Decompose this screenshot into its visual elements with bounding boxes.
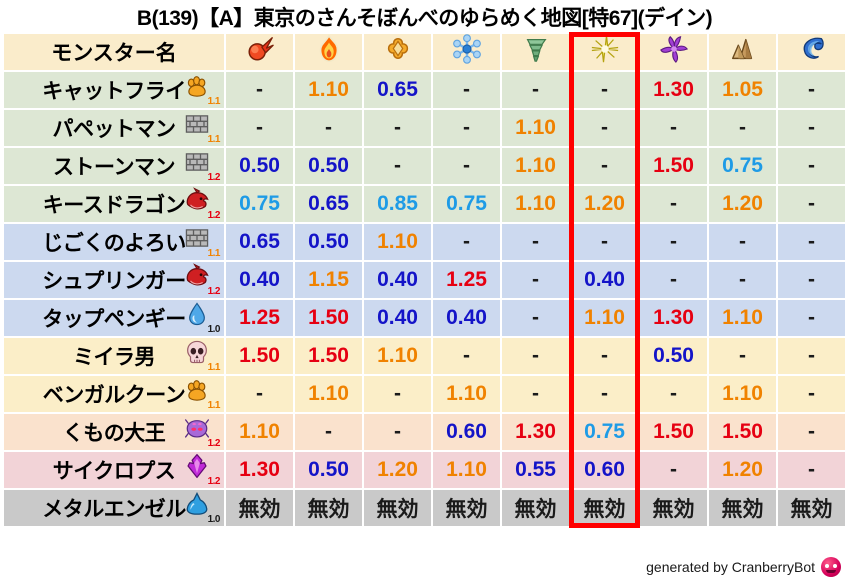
table-row: タップペンギー1.01.251.500.400.40-1.101.301.10-	[4, 300, 845, 336]
resistance-cell: 1.25	[433, 262, 500, 298]
page-title: B(139)【A】東京のさんそぼんべのゆらめく地図[特67](デイン)	[0, 2, 849, 32]
resistance-cell: -	[433, 148, 500, 184]
resistance-cell: -	[640, 376, 707, 412]
resistance-cell: -	[778, 414, 845, 450]
monster-resist-value: 1.2	[208, 439, 220, 449]
monster-name-cell[interactable]: サイクロプス1.2	[4, 452, 224, 488]
flame-icon	[314, 34, 344, 64]
column-header-snowflake-icon	[433, 34, 500, 70]
monster-resist-value: 1.0	[208, 515, 220, 525]
spider-icon	[184, 415, 210, 441]
resistance-cell: 0.40	[433, 300, 500, 336]
resistance-cell: 0.40	[571, 262, 638, 298]
resistance-cell: 0.75	[709, 148, 776, 184]
resistance-cell: 0.50	[295, 452, 362, 488]
monster-name-label: キースドラゴン	[43, 189, 185, 219]
resistance-cell: -	[778, 72, 845, 108]
resistance-cell: 無効	[778, 490, 845, 526]
table-row: ベンガルクーン1.1-1.10-1.10---1.10-	[4, 376, 845, 412]
monster-name-cell[interactable]: くもの大王1.2	[4, 414, 224, 450]
dragon-icon	[184, 187, 210, 213]
resistance-cell: -	[640, 452, 707, 488]
resistance-cell: 0.40	[226, 262, 293, 298]
monster-name-label: タップペンギー	[42, 303, 186, 333]
resistance-cell: 1.50	[640, 148, 707, 184]
resistance-cell: 無効	[433, 490, 500, 526]
monster-resist-value: 1.1	[208, 363, 220, 373]
monster-resist-value: 1.2	[208, 173, 220, 183]
resistance-cell: 0.60	[571, 452, 638, 488]
resistance-cell: 1.20	[364, 452, 431, 488]
resistance-cell: 無効	[709, 490, 776, 526]
brick-icon	[184, 225, 210, 251]
resistance-cell: 無効	[226, 490, 293, 526]
monster-type-badge: 1.0	[180, 301, 220, 335]
resistance-cell: -	[226, 110, 293, 146]
droplet-icon	[184, 301, 210, 327]
resistance-cell: -	[571, 110, 638, 146]
table-row: じごくのよろい1.10.650.501.10------	[4, 224, 845, 260]
footer-credit: generated by CranberryBot	[646, 557, 841, 577]
monster-name-label: ストーンマン	[53, 151, 175, 181]
resistance-cell: 1.05	[709, 72, 776, 108]
resistance-cell: 0.50	[226, 148, 293, 184]
table-body: キャットフライ1.1-1.100.65---1.301.05-パペットマン1.1…	[4, 72, 845, 526]
monster-name-label: パペットマン	[53, 113, 176, 143]
resistance-cell: -	[226, 72, 293, 108]
dragon-icon	[184, 263, 210, 289]
monster-type-badge: 1.2	[180, 263, 220, 297]
resistance-cell: -	[571, 338, 638, 374]
monster-resist-value: 1.1	[208, 249, 220, 259]
resistance-cell: 1.10	[295, 72, 362, 108]
resistance-cell: 1.50	[295, 338, 362, 374]
resistance-cell: 0.85	[364, 186, 431, 222]
resistance-cell: 1.30	[640, 300, 707, 336]
resistance-cell: -	[502, 376, 569, 412]
resistance-cell: -	[778, 262, 845, 298]
table-row: シュプリンガー1.20.401.150.401.25-0.40---	[4, 262, 845, 298]
dark-swirl-icon	[659, 34, 689, 64]
resistance-cell: 1.20	[709, 186, 776, 222]
resistance-cell: -	[709, 338, 776, 374]
monster-resist-value: 1.2	[208, 287, 220, 297]
table-row: メタルエンゼル1.0無効無効無効無効無効無効無効無効無効	[4, 490, 845, 526]
resistance-cell: 1.30	[502, 414, 569, 450]
monster-name-label: メタルエンゼル	[42, 493, 186, 523]
resistance-cell: -	[364, 110, 431, 146]
resistance-cell: -	[433, 110, 500, 146]
resistance-cell: -	[502, 300, 569, 336]
resistance-cell: -	[709, 110, 776, 146]
resistance-cell: 1.10	[295, 376, 362, 412]
slime-icon	[184, 491, 210, 517]
monster-type-badge: 1.1	[180, 339, 220, 373]
resistance-cell: -	[433, 72, 500, 108]
resistance-cell: 1.20	[709, 452, 776, 488]
resistance-cell: -	[226, 376, 293, 412]
resistance-cell: 無効	[640, 490, 707, 526]
monster-resist-value: 1.1	[208, 401, 220, 411]
skull-icon	[184, 339, 210, 365]
resistance-cell: 1.10	[226, 414, 293, 450]
resistance-cell: -	[364, 148, 431, 184]
table-row: くもの大王1.21.10--0.601.300.751.501.50-	[4, 414, 845, 450]
table-row: サイクロプス1.21.300.501.201.100.550.60-1.20-	[4, 452, 845, 488]
monster-name-cell[interactable]: タップペンギー1.0	[4, 300, 224, 336]
resistance-cell: -	[778, 338, 845, 374]
resistance-cell: 1.10	[364, 338, 431, 374]
column-header-tornado-icon	[502, 34, 569, 70]
resistance-cell: 0.50	[640, 338, 707, 374]
monster-type-badge: 1.1	[180, 377, 220, 411]
monster-name-cell[interactable]: キャットフライ1.1	[4, 72, 224, 108]
paw-icon	[184, 73, 210, 99]
column-header-blast-icon	[364, 34, 431, 70]
column-header-dark-swirl-icon	[640, 34, 707, 70]
monster-name-label: キャットフライ	[42, 75, 186, 105]
column-header-mountain-icon	[709, 34, 776, 70]
resistance-cell: 1.50	[640, 414, 707, 450]
resistance-cell: -	[502, 224, 569, 260]
resistance-cell: 1.50	[709, 414, 776, 450]
light-star-icon	[590, 34, 620, 64]
monster-name-cell[interactable]: メタルエンゼル1.0	[4, 490, 224, 526]
resistance-cell: 無効	[502, 490, 569, 526]
monster-name-label: ミイラ男	[73, 341, 155, 371]
resistance-cell: 1.50	[226, 338, 293, 374]
monster-type-badge: 1.1	[180, 225, 220, 259]
table-row: ミイラ男1.11.501.501.10---0.50--	[4, 338, 845, 374]
monster-name-cell[interactable]: キースドラゴン1.2	[4, 186, 224, 222]
monster-resist-value: 1.2	[208, 211, 220, 221]
resistance-cell: 0.65	[295, 186, 362, 222]
monster-name-cell[interactable]: じごくのよろい1.1	[4, 224, 224, 260]
monster-type-badge: 1.1	[180, 111, 220, 145]
monster-name-label: くもの大王	[63, 417, 166, 447]
monster-type-badge: 1.2	[180, 187, 220, 221]
table-row: ストーンマン1.20.500.50--1.10-1.500.75-	[4, 148, 845, 184]
resistance-cell: 0.40	[364, 300, 431, 336]
resistance-cell: -	[709, 262, 776, 298]
resistance-cell: 1.10	[433, 452, 500, 488]
monster-resist-value: 1.0	[208, 325, 220, 335]
monster-name-cell[interactable]: パペットマン1.1	[4, 110, 224, 146]
resistance-cell: 0.40	[364, 262, 431, 298]
resistance-cell: 1.20	[571, 186, 638, 222]
resistance-cell: 0.65	[364, 72, 431, 108]
monster-name-cell[interactable]: シュプリンガー1.2	[4, 262, 224, 298]
monster-name-label: ベンガルクーン	[43, 379, 185, 409]
monster-name-cell[interactable]: ベンガルクーン1.1	[4, 376, 224, 412]
resistance-cell: 0.75	[226, 186, 293, 222]
resistance-cell: -	[571, 376, 638, 412]
resistance-cell: 1.10	[709, 300, 776, 336]
resistance-cell: -	[778, 224, 845, 260]
monster-name-cell[interactable]: ミイラ男1.1	[4, 338, 224, 374]
monster-resist-value: 1.1	[208, 97, 220, 107]
resistance-cell: -	[433, 224, 500, 260]
resistance-cell: -	[364, 376, 431, 412]
table-row: キャットフライ1.1-1.100.65---1.301.05-	[4, 72, 845, 108]
resistance-table-container: モンスター名 キャットフライ1.1-1.100.65---1.301.05-パペ…	[2, 32, 847, 528]
brick-icon	[184, 111, 210, 137]
monster-name-label: サイクロプス	[53, 455, 176, 485]
resistance-cell: 0.75	[571, 414, 638, 450]
resistance-cell: -	[502, 262, 569, 298]
table-header-row: モンスター名	[4, 34, 845, 70]
resistance-cell: 0.50	[295, 224, 362, 260]
resistance-cell: 無効	[571, 490, 638, 526]
wave-icon	[797, 34, 827, 64]
resistance-cell: 1.30	[226, 452, 293, 488]
tornado-icon	[521, 34, 551, 64]
resistance-cell: 1.10	[433, 376, 500, 412]
column-header-wave-icon	[778, 34, 845, 70]
resistance-cell: -	[640, 186, 707, 222]
resistance-cell: -	[571, 148, 638, 184]
resistance-cell: -	[640, 224, 707, 260]
resistance-cell: -	[778, 300, 845, 336]
resistance-cell: 0.50	[295, 148, 362, 184]
trident-icon	[184, 453, 210, 479]
resistance-cell: 1.15	[295, 262, 362, 298]
resistance-cell: 1.10	[502, 110, 569, 146]
meteor-icon	[245, 34, 275, 64]
resistance-cell: 1.30	[640, 72, 707, 108]
resistance-cell: 1.10	[502, 186, 569, 222]
resistance-cell: 1.25	[226, 300, 293, 336]
resistance-cell: -	[640, 262, 707, 298]
resistance-cell: -	[364, 414, 431, 450]
resistance-cell: -	[571, 72, 638, 108]
monster-type-badge: 1.2	[180, 415, 220, 449]
resistance-cell: -	[778, 452, 845, 488]
resistance-cell: -	[709, 224, 776, 260]
resistance-cell: 0.75	[433, 186, 500, 222]
resistance-cell: -	[778, 148, 845, 184]
resistance-cell: 無効	[364, 490, 431, 526]
resistance-cell: -	[778, 376, 845, 412]
column-header-light-star-icon	[571, 34, 638, 70]
resistance-cell: -	[433, 338, 500, 374]
brick-icon	[184, 149, 210, 175]
resistance-cell: 1.10	[571, 300, 638, 336]
cranberry-icon	[821, 557, 841, 577]
monster-name-label: じごくのよろい	[42, 227, 186, 257]
resistance-cell: 1.10	[502, 148, 569, 184]
resistance-cell: -	[571, 224, 638, 260]
resistance-cell: 無効	[295, 490, 362, 526]
resistance-cell: 0.55	[502, 452, 569, 488]
monster-type-badge: 1.0	[180, 491, 220, 525]
footer-text: generated by CranberryBot	[646, 559, 815, 575]
monster-name-cell[interactable]: ストーンマン1.2	[4, 148, 224, 184]
snowflake-icon	[452, 34, 482, 64]
resistance-cell: 1.50	[295, 300, 362, 336]
resistance-cell: -	[778, 110, 845, 146]
resistance-cell: -	[778, 186, 845, 222]
resistance-cell: 0.65	[226, 224, 293, 260]
monster-type-badge: 1.2	[180, 453, 220, 487]
resistance-cell: -	[640, 110, 707, 146]
monster-name-label: シュプリンガー	[42, 265, 186, 295]
column-header-meteor-icon	[226, 34, 293, 70]
paw-icon	[184, 377, 210, 403]
resistance-cell: 0.60	[433, 414, 500, 450]
column-header-flame-icon	[295, 34, 362, 70]
resistance-cell: -	[502, 72, 569, 108]
monster-resist-value: 1.1	[208, 135, 220, 145]
column-header-monster-name: モンスター名	[4, 34, 224, 70]
table-row: パペットマン1.1----1.10----	[4, 110, 845, 146]
monster-type-badge: 1.2	[180, 149, 220, 183]
resistance-cell: -	[295, 414, 362, 450]
monster-resist-value: 1.2	[208, 477, 220, 487]
resistance-cell: -	[502, 338, 569, 374]
resistance-cell: -	[295, 110, 362, 146]
resistance-table: モンスター名 キャットフライ1.1-1.100.65---1.301.05-パペ…	[2, 32, 847, 528]
resistance-cell: 1.10	[709, 376, 776, 412]
resistance-cell: 1.10	[364, 224, 431, 260]
table-row: キースドラゴン1.20.750.650.850.751.101.20-1.20-	[4, 186, 845, 222]
mountain-icon	[728, 34, 758, 64]
blast-icon	[383, 34, 413, 64]
monster-type-badge: 1.1	[180, 73, 220, 107]
